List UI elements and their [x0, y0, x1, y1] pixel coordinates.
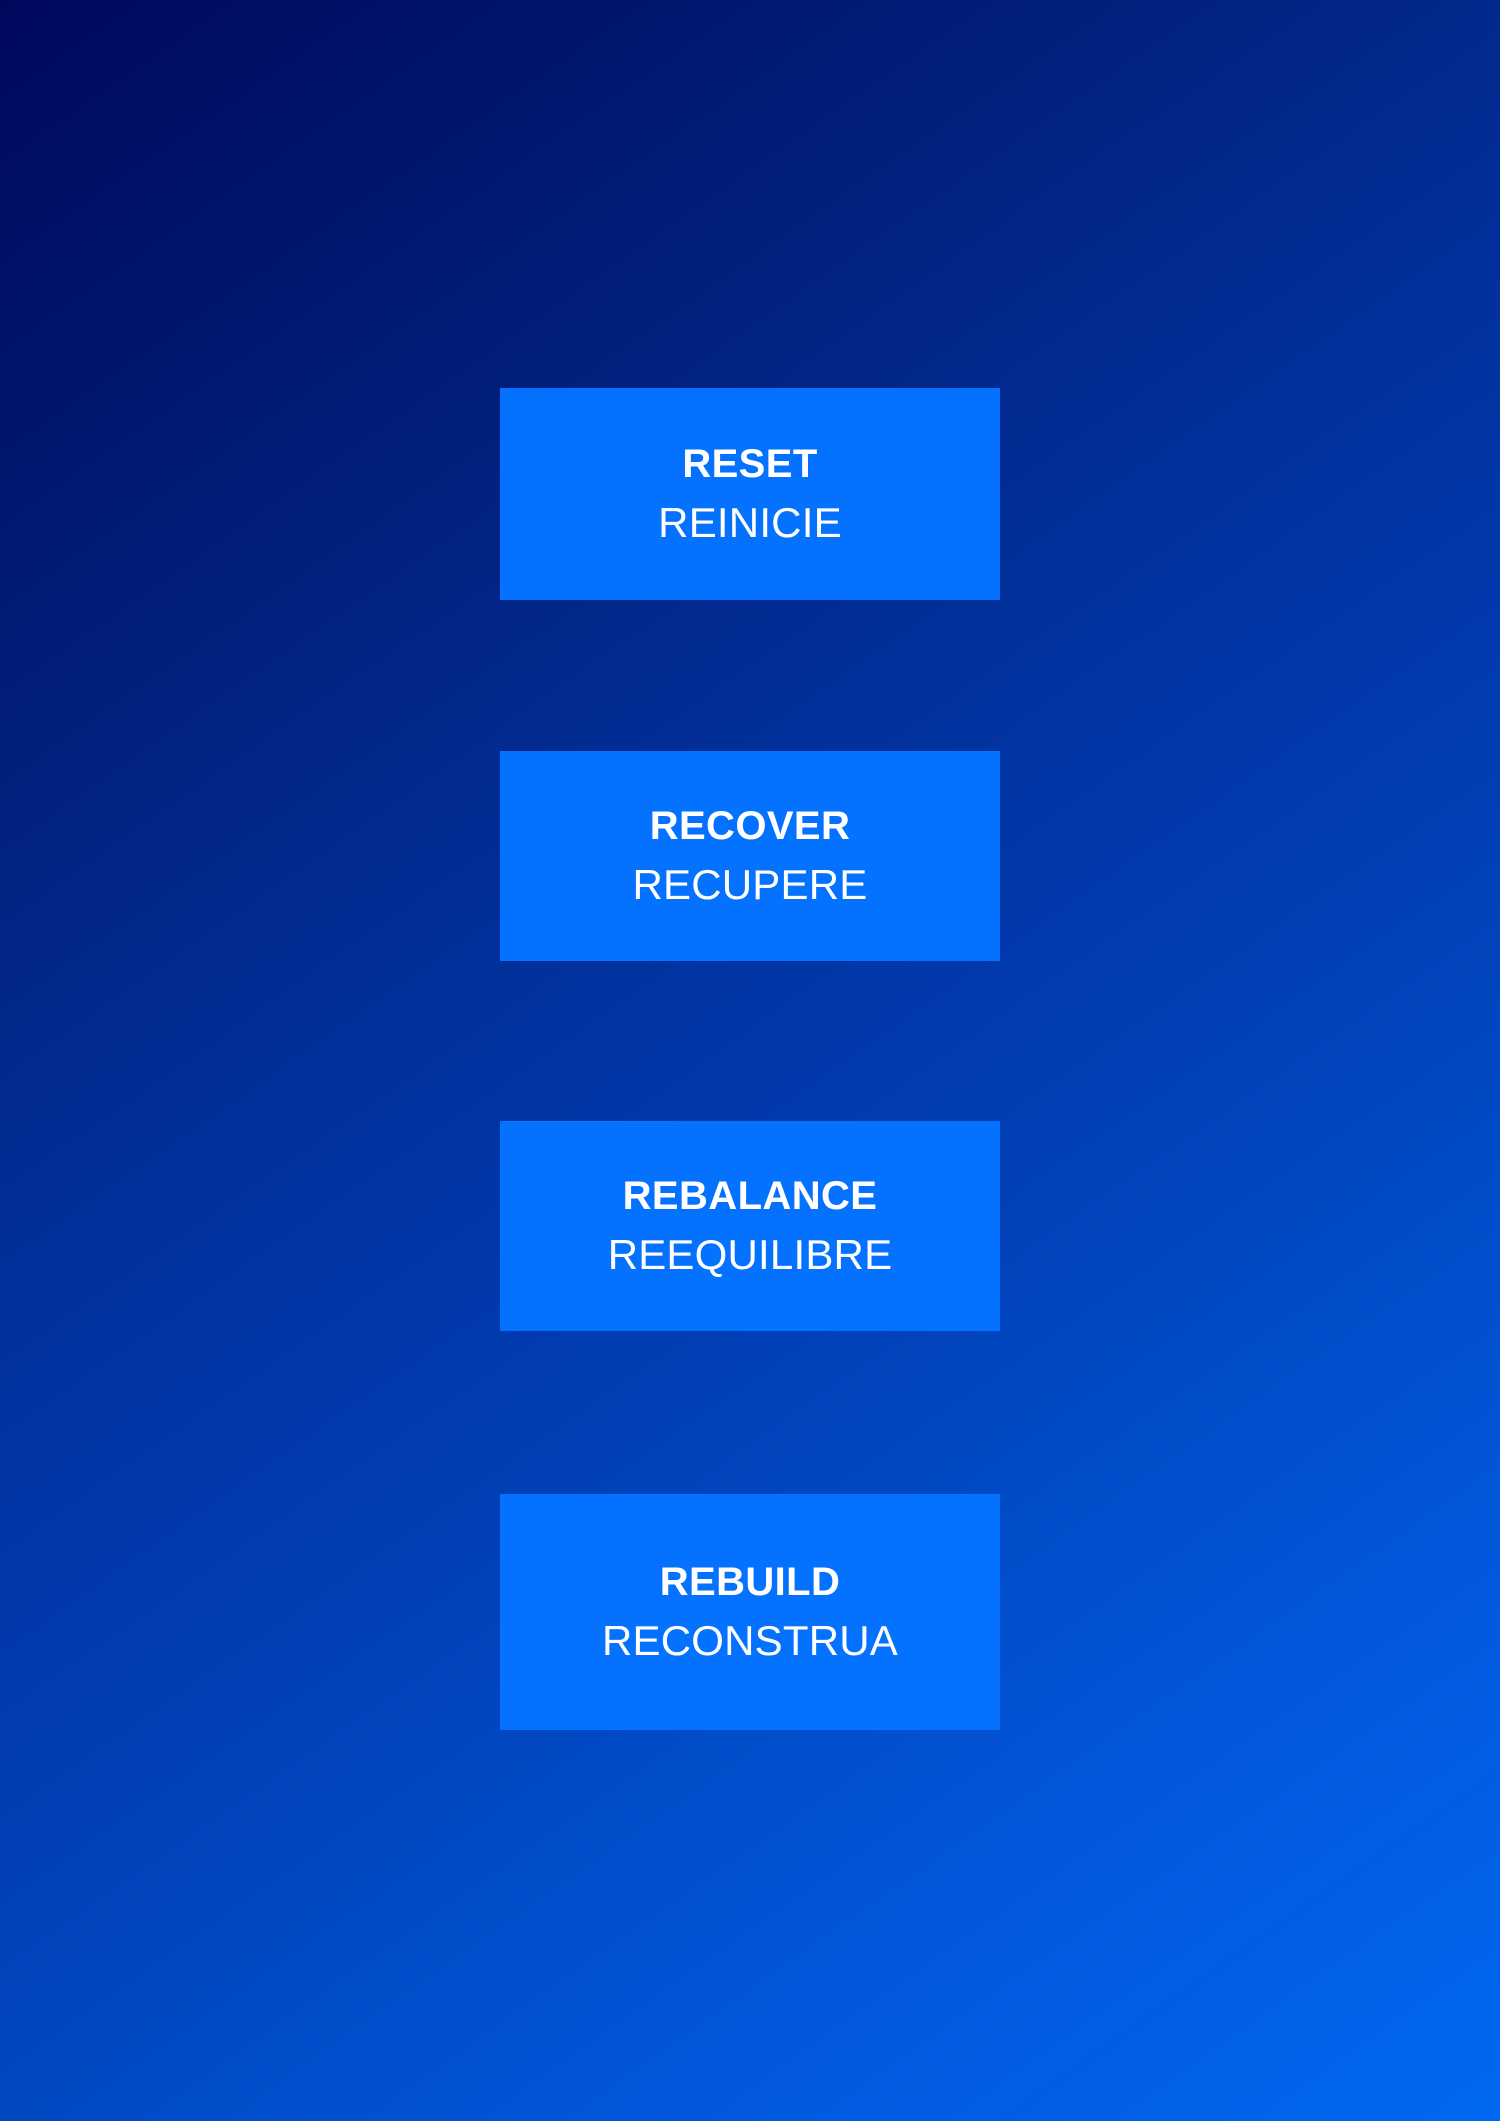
term-card-rebalance[interactable]: REBALANCE REEQUILIBRE — [500, 1121, 1000, 1331]
term-card-reset[interactable]: RESET REINICIE — [500, 388, 1000, 600]
term-card-rebuild[interactable]: REBUILD RECONSTRUA — [500, 1494, 1000, 1730]
card-term-label: RESET — [682, 443, 817, 485]
card-translation-label: RECUPERE — [633, 863, 868, 907]
card-term-label: REBALANCE — [623, 1175, 878, 1217]
gradient-background-canvas: RESET REINICIE RECOVER RECUPERE REBALANC… — [0, 0, 1500, 2121]
card-translation-label: REEQUILIBRE — [608, 1233, 893, 1277]
card-translation-label: REINICIE — [658, 501, 842, 545]
term-card-recover[interactable]: RECOVER RECUPERE — [500, 751, 1000, 961]
card-term-label: RECOVER — [650, 805, 851, 847]
card-term-label: REBUILD — [660, 1561, 841, 1603]
card-translation-label: RECONSTRUA — [602, 1619, 898, 1663]
